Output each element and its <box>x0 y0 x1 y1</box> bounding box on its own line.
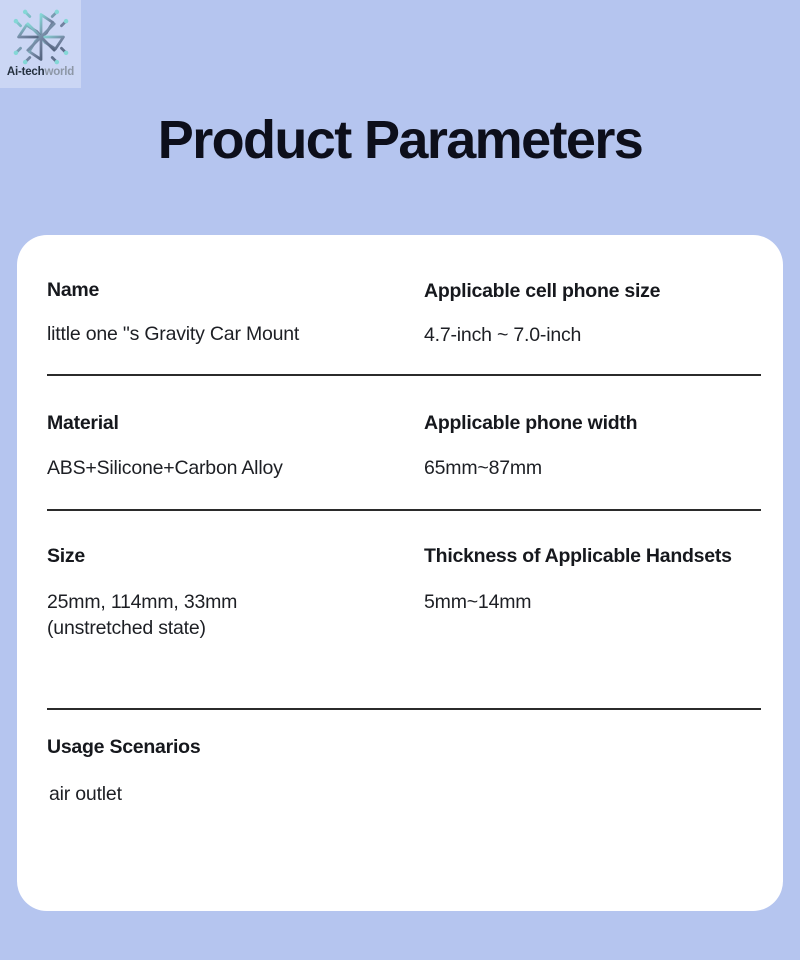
spec-value: ABS+Silicone+Carbon Alloy <box>47 456 424 482</box>
spec-value: air outlet <box>47 782 424 808</box>
spec-value-line: little one "s Gravity Car Mount <box>47 322 424 348</box>
spec-cell-name: Name little one "s Gravity Car Mount <box>47 278 424 376</box>
spec-cell-phone-size: Applicable cell phone size 4.7-inch ~ 7.… <box>424 278 761 376</box>
table-row: Usage Scenarios air outlet <box>17 710 783 911</box>
spec-cell-thickness: Thickness of Applicable Handsets 5mm~14m… <box>424 544 761 710</box>
spec-cell-material: Material ABS+Silicone+Carbon Alloy <box>47 411 424 511</box>
circuit-pinwheel-logo-icon <box>8 4 74 70</box>
spec-label: Material <box>47 411 424 435</box>
spec-card: Name little one "s Gravity Car Mount App… <box>17 235 783 911</box>
table-row: Name little one "s Gravity Car Mount App… <box>17 235 783 376</box>
spec-cell-size: Size 25mm, 114mm, 33mm (unstretched stat… <box>47 544 424 710</box>
spec-value-line: 4.7-inch ~ 7.0-inch <box>424 323 761 349</box>
spec-cell-phone-width: Applicable phone width 65mm~87mm <box>424 411 761 511</box>
spec-label: Applicable cell phone size <box>424 279 761 303</box>
spec-value-line: (unstretched state) <box>47 616 424 642</box>
spec-label: Name <box>47 278 424 302</box>
spec-value: 65mm~87mm <box>424 456 761 482</box>
spec-label: Applicable phone width <box>424 411 761 435</box>
spec-label: Usage Scenarios <box>47 735 424 759</box>
spec-cell-usage-scenarios: Usage Scenarios air outlet <box>47 735 424 911</box>
brand-watermark: Ai-techworld <box>0 0 81 88</box>
spec-value: 4.7-inch ~ 7.0-inch <box>424 323 761 349</box>
spec-cell-empty <box>424 735 761 911</box>
spec-label: Size <box>47 544 424 568</box>
spec-value-line: 5mm~14mm <box>424 590 761 616</box>
spec-value-line: air outlet <box>49 782 424 808</box>
table-row: Material ABS+Silicone+Carbon Alloy Appli… <box>17 376 783 511</box>
spec-value: 25mm, 114mm, 33mm (unstretched state) <box>47 590 424 642</box>
spec-label: Thickness of Applicable Handsets <box>424 544 761 568</box>
spec-value-line: 25mm, 114mm, 33mm <box>47 590 424 616</box>
spec-value-line: ABS+Silicone+Carbon Alloy <box>47 456 424 482</box>
table-row: Size 25mm, 114mm, 33mm (unstretched stat… <box>17 511 783 710</box>
spec-value: little one "s Gravity Car Mount <box>47 322 424 348</box>
spec-value-line: 65mm~87mm <box>424 456 761 482</box>
spec-value: 5mm~14mm <box>424 590 761 616</box>
page-title: Product Parameters <box>0 113 800 167</box>
